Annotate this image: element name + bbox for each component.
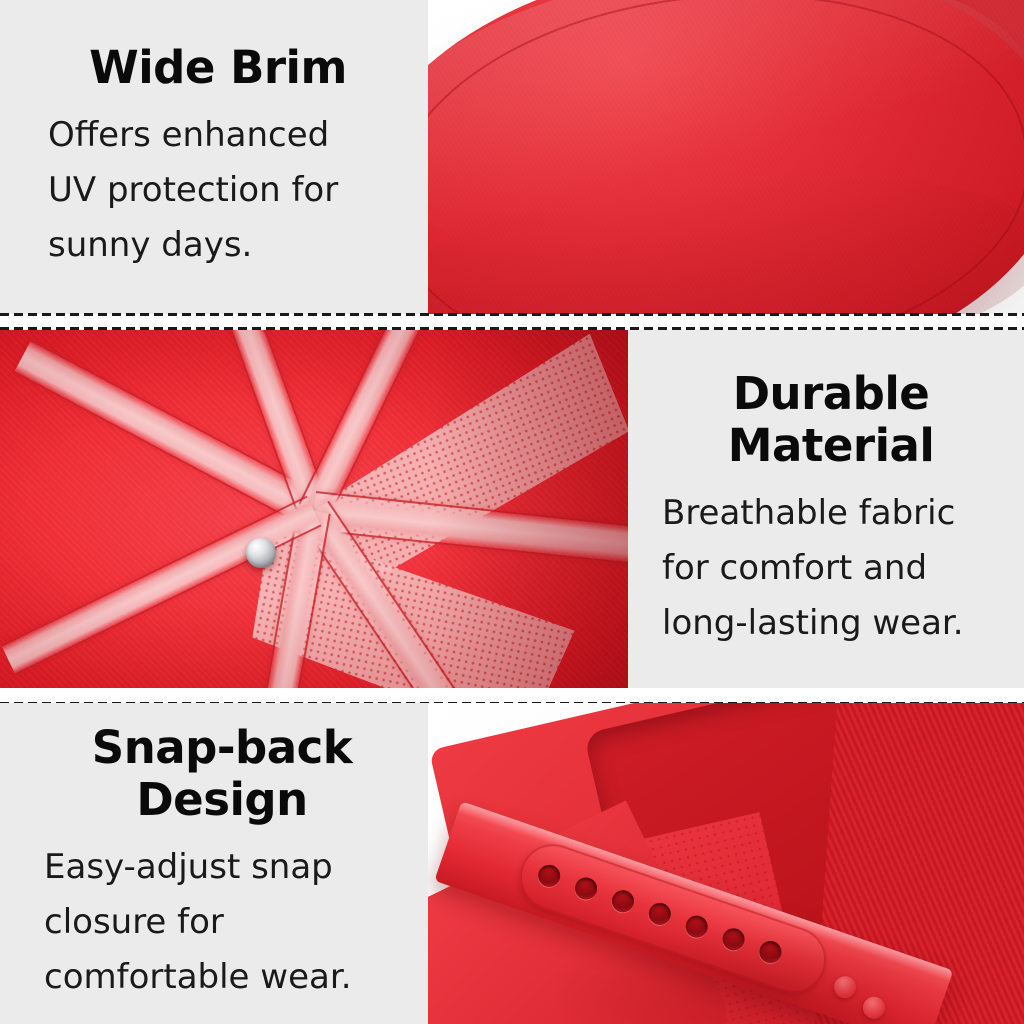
- fabric-twill-texture: [428, 0, 1024, 314]
- feature-description-snap-back-design: Easy-adjust snap closure for comfortable…: [44, 840, 400, 1005]
- strap-hole-4: [646, 900, 674, 928]
- product-feature-infographic: Wide Brim Offers enhanced UV protection …: [0, 0, 1024, 1024]
- feature-title-wide-brim: Wide Brim: [48, 42, 388, 94]
- feature-title-snap-back-design: Snap-back Design: [44, 722, 400, 826]
- feature-row-snap-back-design: Snap-back Design Easy-adjust snap closur…: [0, 703, 1024, 1024]
- strap-hole-2: [572, 875, 600, 903]
- dashed-divider-top: [0, 313, 1024, 316]
- feature-row-durable-material: Durable Material Breathable fabric for c…: [0, 330, 1024, 688]
- feature-text-wide-brim: Wide Brim Offers enhanced UV protection …: [0, 0, 428, 314]
- strap-hole-1: [535, 862, 563, 890]
- metal-snap-button: [246, 538, 276, 568]
- feature-text-snap-back-design: Snap-back Design Easy-adjust snap closur…: [0, 703, 428, 1024]
- feature-description-durable-material: Breathable fabric for comfort and long-l…: [662, 486, 1000, 651]
- interior-vignette: [0, 330, 628, 688]
- cap-brim-photo: [428, 0, 1024, 314]
- feature-text-durable-material: Durable Material Breathable fabric for c…: [628, 330, 1024, 688]
- cap-interior-photo: [0, 330, 628, 688]
- strap-hole-3: [609, 887, 637, 915]
- feature-description-wide-brim: Offers enhanced UV protection for sunny …: [48, 108, 388, 273]
- feature-title-durable-material: Durable Material: [662, 368, 1000, 472]
- snapback-closure-photo: [428, 703, 1024, 1024]
- feature-row-wide-brim: Wide Brim Offers enhanced UV protection …: [0, 0, 1024, 314]
